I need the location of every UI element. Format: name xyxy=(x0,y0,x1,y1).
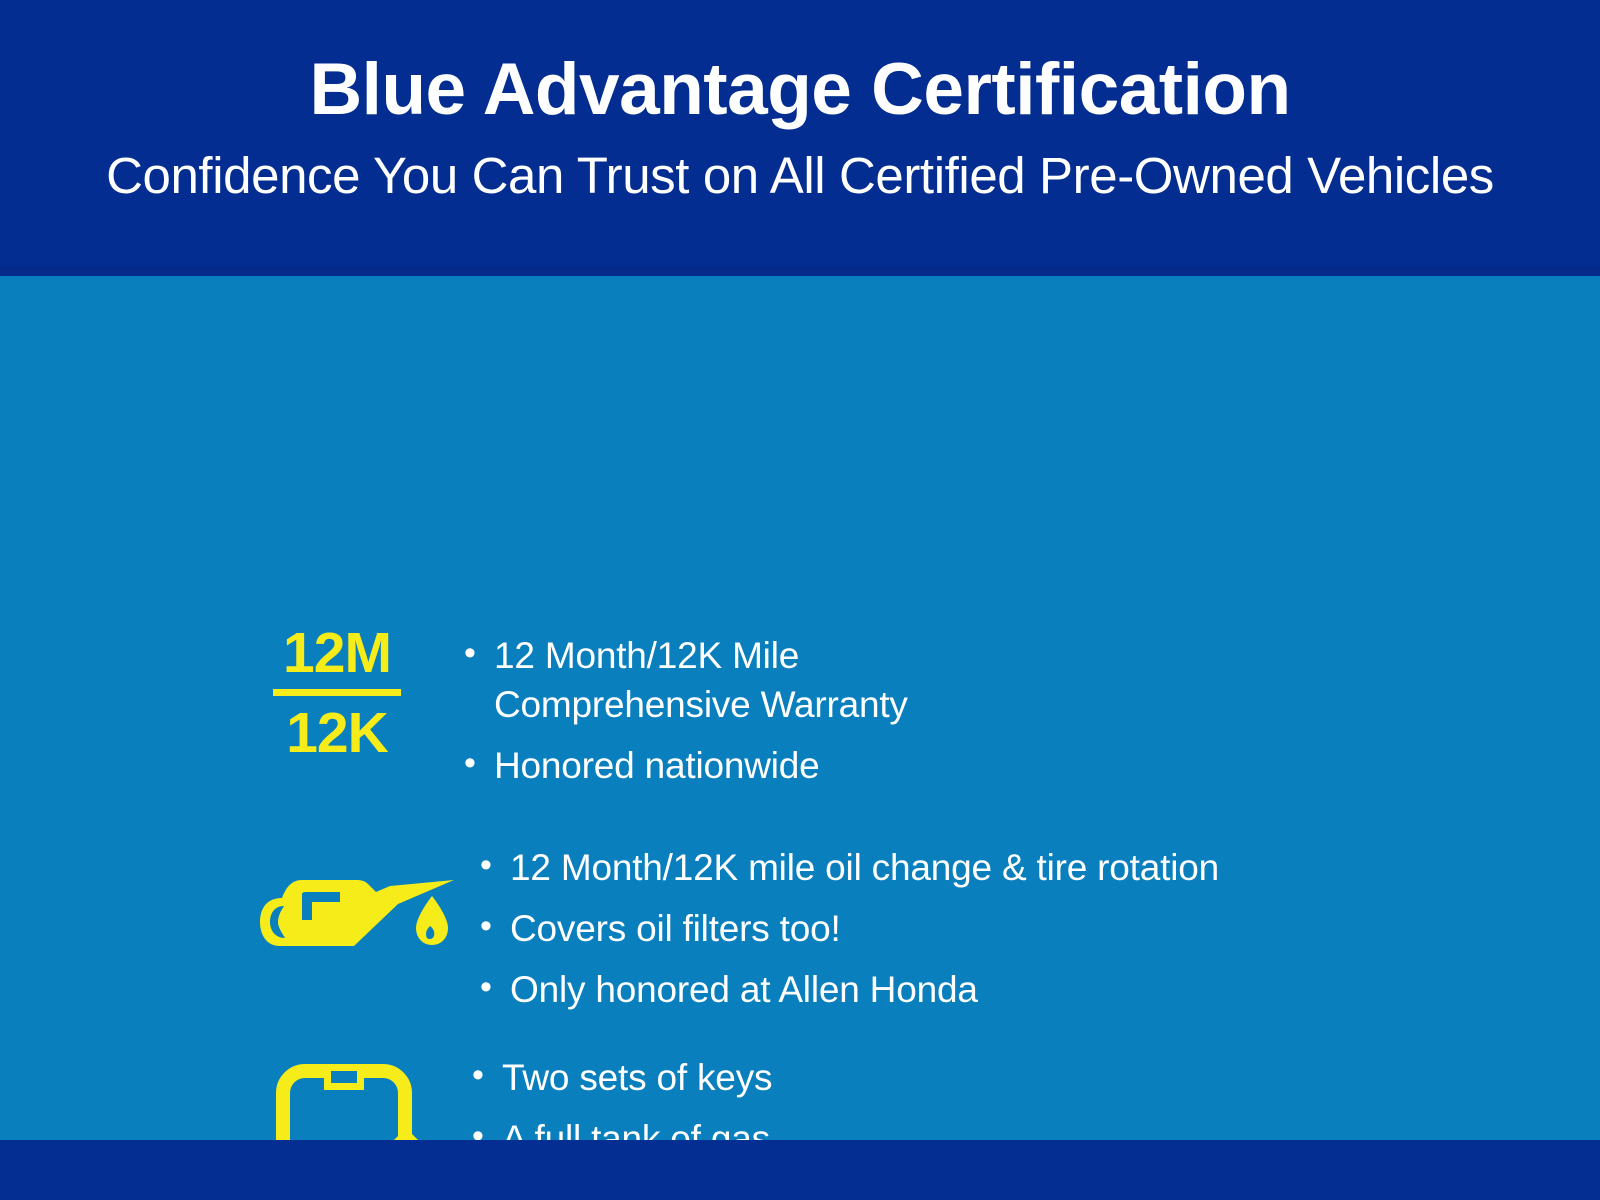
oil-can-icon xyxy=(258,860,454,952)
benefit-section-warranty: 12M 12K 12 Month/12K Mile Comprehensive … xyxy=(270,624,908,802)
icon-cell-warranty: 12M 12K xyxy=(270,624,404,762)
list-item: Two sets of keys xyxy=(464,1054,964,1103)
list-item: Covers oil filters too! xyxy=(472,905,1219,954)
bullet-list-oil-change: 12 Month/12K mile oil change & tire rota… xyxy=(472,844,1219,1026)
footer-band xyxy=(0,1140,1600,1200)
list-item: Only honored at Allen Honda xyxy=(472,966,1219,1015)
body-panel: 12M 12K 12 Month/12K Mile Comprehensive … xyxy=(0,276,1600,1140)
list-item: 12 Month/12K Mile Comprehensive Warranty xyxy=(456,632,908,730)
benefit-section-oil-change: 12 Month/12K mile oil change & tire rota… xyxy=(258,844,1219,1026)
list-item: Honored nationwide xyxy=(456,742,908,791)
fraction-bar xyxy=(273,689,401,696)
fraction-numerator: 12M xyxy=(270,624,404,682)
list-item: 12 Month/12K mile oil change & tire rota… xyxy=(472,844,1219,893)
fraction-denominator: 12K xyxy=(270,704,404,762)
bullet-list-warranty: 12 Month/12K Mile Comprehensive Warranty… xyxy=(456,632,908,802)
certification-poster: Blue Advantage Certification Confidence … xyxy=(0,0,1600,1200)
page-title: Blue Advantage Certification xyxy=(0,52,1600,129)
12m-12k-fraction-icon: 12M 12K xyxy=(270,624,404,762)
page-subtitle: Confidence You Can Trust on All Certifie… xyxy=(0,148,1600,204)
icon-cell-oil-change xyxy=(258,844,454,957)
header-divider xyxy=(0,266,1600,276)
header-banner: Blue Advantage Certification Confidence … xyxy=(0,0,1600,266)
